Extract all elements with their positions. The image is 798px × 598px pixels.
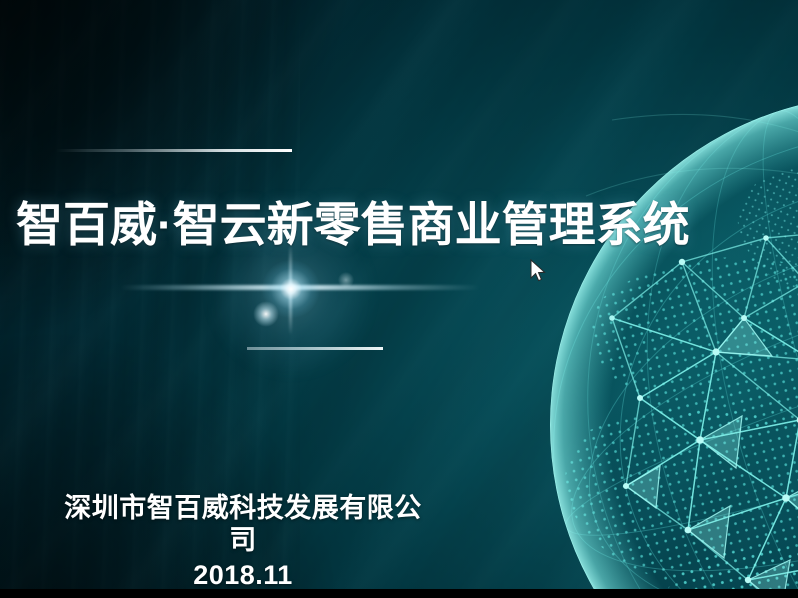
top-divider-line <box>56 149 292 152</box>
presentation-date: 2018.11 <box>56 559 430 591</box>
lens-flare-secondary <box>253 301 279 327</box>
company-name: 深圳市智百威科技发展有限公司 <box>56 492 430 557</box>
presentation-slide: 智百威·智云新零售商业管理系统 深圳市智百威科技发展有限公司 2018.11 <box>0 0 798 598</box>
lens-flare-secondary-small <box>338 272 354 288</box>
bottom-black-bar <box>0 589 798 598</box>
footer-block: 深圳市智百威科技发展有限公司 2018.11 <box>56 492 430 591</box>
page-title: 智百威·智云新零售商业管理系统 <box>16 200 696 250</box>
